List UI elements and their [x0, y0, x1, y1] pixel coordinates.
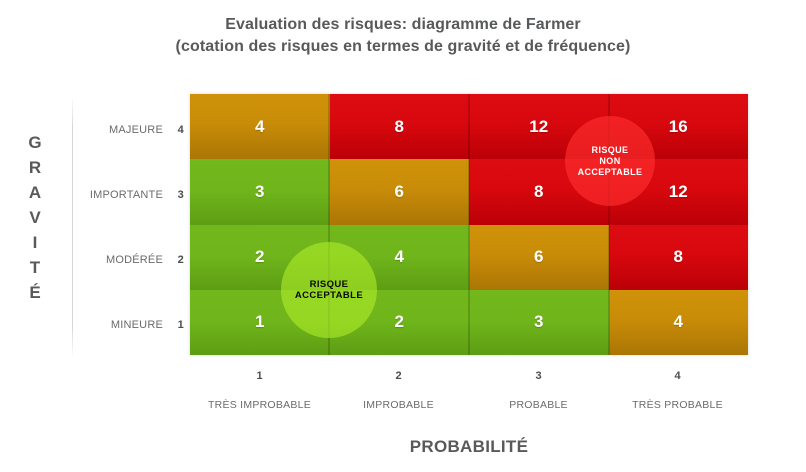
y-axis-title-letter: A	[22, 180, 48, 205]
y-tick-label: MINEURE	[111, 319, 163, 331]
x-tick-probable: 3 PROBABLE	[469, 370, 608, 411]
y-axis-title-letter: R	[22, 155, 48, 180]
y-tick-label: MAJEURE	[109, 124, 163, 136]
cell-value: 8	[534, 182, 543, 202]
y-tick-moderee: MODÉRÉE2	[78, 254, 184, 270]
risque-acceptable-bubble: RISQUE ACCEPTABLE	[281, 242, 377, 338]
cell-value: 3	[534, 312, 543, 332]
x-tick-improbable: 2 IMPROBABLE	[329, 370, 468, 411]
y-axis-title-letter: I	[22, 230, 48, 255]
cell-value: 2	[255, 247, 264, 267]
cell-value: 12	[529, 117, 548, 137]
matrix-cell[interactable]: 4	[609, 290, 749, 355]
x-tick-label: IMPROBABLE	[329, 399, 468, 411]
y-tick-importante: IMPORTANTE3	[78, 189, 184, 205]
y-axis-title-letter: T	[22, 255, 48, 280]
cell-value: 4	[255, 117, 264, 137]
risk-matrix: 4 8 12 16 3 6 8 12 2 4 6 8 1 2 3 4	[190, 94, 748, 355]
x-tick-number: 1	[190, 370, 329, 382]
cell-value: 3	[255, 182, 264, 202]
x-tick-number: 2	[329, 370, 468, 382]
x-tick-label: TRÈS IMPROBABLE	[190, 399, 329, 411]
y-axis-rule	[72, 96, 73, 358]
x-tick-label: TRÈS PROBABLE	[608, 399, 747, 411]
bubble-line: RISQUE	[295, 279, 363, 290]
y-tick-label: IMPORTANTE	[90, 189, 163, 201]
cell-value: 6	[534, 247, 543, 267]
cell-value: 8	[674, 247, 683, 267]
x-tick-label: PROBABLE	[469, 399, 608, 411]
y-axis-title-letter: V	[22, 205, 48, 230]
matrix-cell[interactable]: 8	[609, 225, 749, 290]
matrix-cell[interactable]: 6	[330, 159, 470, 224]
x-tick-number: 4	[608, 370, 747, 382]
y-tick-number: 2	[170, 254, 184, 266]
cell-value: 2	[395, 312, 404, 332]
x-tick-tres-improbable: 1 TRÈS IMPROBABLE	[190, 370, 329, 411]
x-tick-number: 3	[469, 370, 608, 382]
y-axis-title-letter: É	[22, 280, 48, 305]
risque-non-acceptable-bubble: RISQUE NON ACCEPTABLE	[565, 116, 655, 206]
matrix-cell[interactable]: 4	[190, 94, 330, 159]
cell-value: 8	[395, 117, 404, 137]
farmer-diagram: G R A V I T É MAJEURE4 IMPORTANTE3 MODÉR…	[0, 0, 806, 472]
bubble-line: RISQUE	[578, 145, 643, 156]
y-tick-number: 1	[170, 319, 184, 331]
bubble-line: NON	[578, 156, 643, 167]
y-tick-label: MODÉRÉE	[106, 254, 163, 266]
y-tick-number: 3	[170, 189, 184, 201]
matrix-cell[interactable]: 6	[469, 225, 609, 290]
x-axis-title: PROBABILITÉ	[190, 437, 748, 457]
y-tick-mineure: MINEURE1	[78, 319, 184, 335]
bubble-line: ACCEPTABLE	[295, 290, 363, 301]
cell-value: 16	[669, 117, 688, 137]
matrix-cell[interactable]: 3	[190, 159, 330, 224]
y-tick-majeure: MAJEURE4	[78, 124, 184, 140]
y-axis-title-letter: G	[22, 130, 48, 155]
cell-value: 4	[395, 247, 404, 267]
y-axis-title: G R A V I T É	[22, 130, 48, 305]
cell-value: 4	[674, 312, 683, 332]
x-tick-tres-probable: 4 TRÈS PROBABLE	[608, 370, 747, 411]
matrix-cell[interactable]: 8	[330, 94, 470, 159]
bubble-line: ACCEPTABLE	[578, 167, 643, 178]
matrix-cell[interactable]: 3	[469, 290, 609, 355]
cell-value: 6	[395, 182, 404, 202]
cell-value: 1	[255, 312, 264, 332]
y-tick-number: 4	[170, 124, 184, 136]
cell-value: 12	[669, 182, 688, 202]
